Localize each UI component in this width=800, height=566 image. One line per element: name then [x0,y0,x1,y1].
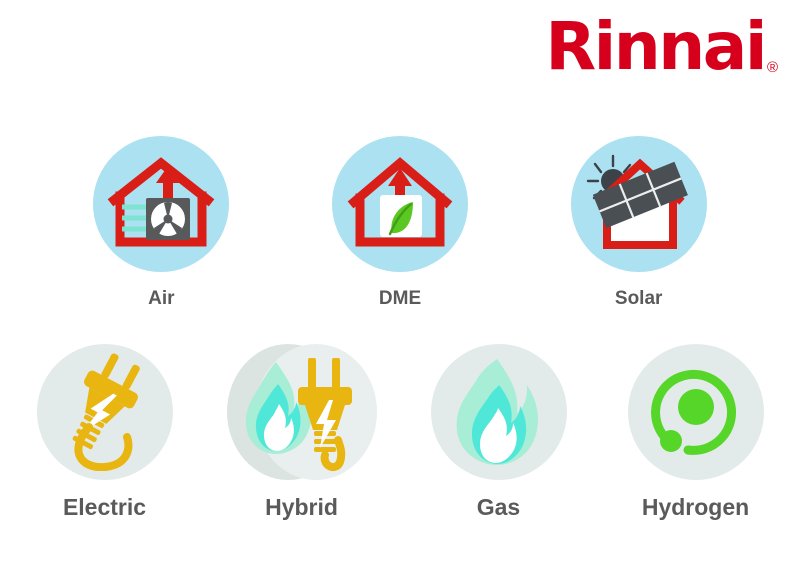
tile-label-solar: Solar [615,288,663,310]
solar-panel-house-icon [580,152,698,256]
electric-plug-icon [53,353,157,471]
dme-leaf-house-icon [344,154,456,254]
hydrogen-atom-icon [641,357,751,467]
hybrid-badge [227,344,377,480]
solar-badge [571,136,707,272]
tile-dme[interactable]: DME [281,136,520,310]
rinnai-logo: Rinnai ® [545,16,778,79]
gas-badge [431,344,567,480]
fuel-row: Electric [0,344,800,521]
tile-hydrogen[interactable]: Hydrogen [597,344,794,521]
air-badge [93,136,229,272]
tile-electric[interactable]: Electric [6,344,203,521]
brand-wordmark: Rinnai [545,16,765,79]
hybrid-flame-plug-icon [236,352,368,472]
tile-label-hybrid: Hybrid [265,494,338,521]
renewable-row: Air DME [0,136,800,310]
tile-air[interactable]: Air [42,136,281,310]
tile-gas[interactable]: Gas [400,344,597,521]
tile-hybrid[interactable]: Hybrid [203,344,400,521]
tile-label-electric: Electric [63,494,146,521]
electric-badge [37,344,173,480]
gas-flame-icon [447,355,551,469]
tile-label-hydrogen: Hydrogen [642,494,749,521]
registered-trademark-icon: ® [767,60,778,79]
tile-label-gas: Gas [477,494,520,521]
dme-badge [332,136,468,272]
air-source-heat-pump-icon [102,154,220,254]
tile-solar[interactable]: Solar [519,136,758,310]
tile-label-air: Air [148,288,174,310]
tile-label-dme: DME [379,288,421,310]
hydrogen-badge [628,344,764,480]
